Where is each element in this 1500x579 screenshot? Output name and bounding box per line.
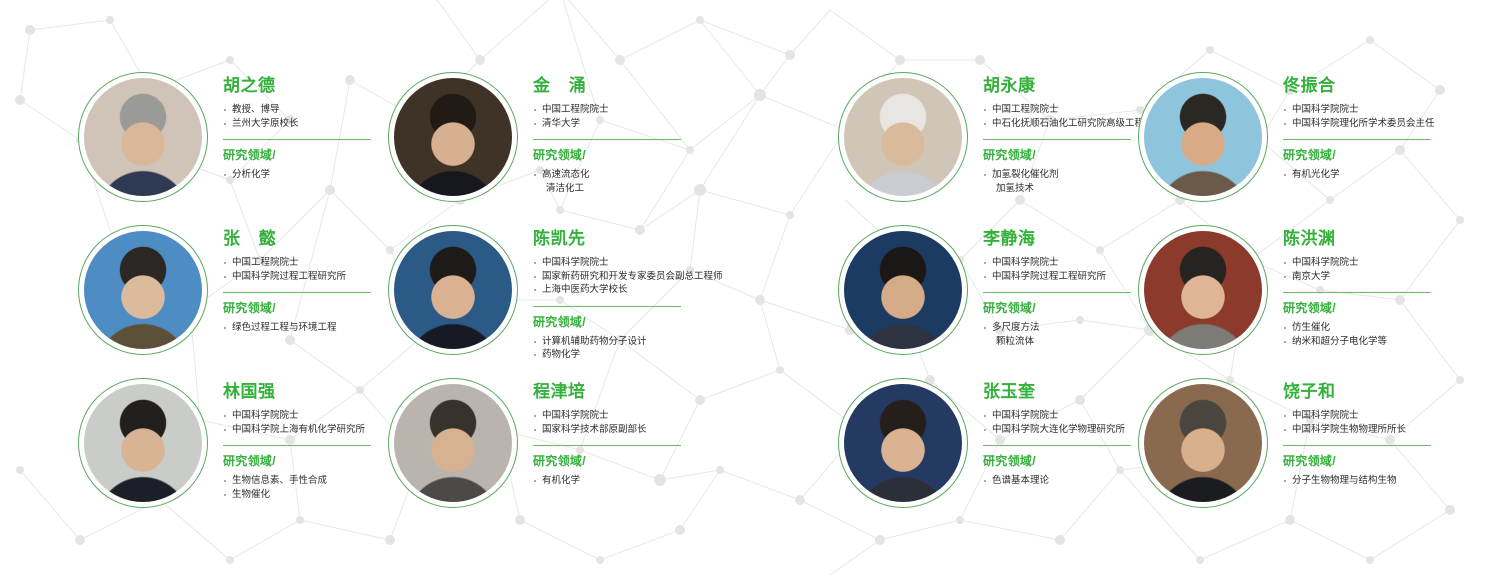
expert-title-item: 国家科学技术部原副部长: [533, 423, 773, 437]
section-divider: [983, 292, 1131, 293]
expert-card[interactable]: 张玉奎中国科学院院士中国科学院大连化学物理研究所研究领域/色谱基本理论: [838, 378, 1138, 528]
expert-title-item: 中国科学院理化所学术委员会主任: [1283, 117, 1500, 131]
expert-titles-list: 中国科学院院士南京大学: [1283, 256, 1500, 283]
avatar-photo: [1144, 231, 1262, 349]
section-divider: [1283, 445, 1431, 446]
expert-card[interactable]: 林国强中国科学院院士中国科学院上海有机化学研究所研究领域/生物信息素、手性合成生…: [78, 378, 378, 528]
avatar-photo: [84, 231, 202, 349]
research-field-item: 计算机辅助药物分子设计: [533, 335, 773, 349]
expert-info: 陈洪渊中国科学院院士南京大学研究领域/仿生催化纳米和超分子电化学等: [1283, 229, 1500, 348]
section-divider: [983, 445, 1131, 446]
avatar-photo: [394, 231, 512, 349]
research-field-item: 仿生催化: [1283, 321, 1500, 335]
expert-titles-list: 中国科学院院士国家科学技术部原副部长: [533, 409, 773, 436]
avatar[interactable]: [78, 72, 208, 202]
expert-title-item: 中国科学院院士: [533, 256, 773, 270]
section-divider: [533, 306, 681, 307]
expert-title-item: 国家新药研究和开发专家委员会副总工程师: [533, 270, 773, 284]
avatar[interactable]: [388, 72, 518, 202]
expert-title-item: 中国科学院生物物理所所长: [1283, 423, 1500, 437]
avatar[interactable]: [838, 72, 968, 202]
expert-info: 佟振合中国科学院院士中国科学院理化所学术委员会主任研究领域/有机光化学: [1283, 76, 1500, 182]
research-field-item: 有机光化学: [1283, 168, 1500, 182]
avatar[interactable]: [1138, 72, 1268, 202]
research-field-item: 药物化学: [533, 348, 773, 362]
expert-title-item: 清华大学: [533, 117, 773, 131]
research-field-item: 纳米和超分子电化学等: [1283, 335, 1500, 349]
expert-card[interactable]: 张 懿中国工程院院士中国科学院过程工程研究所研究领域/绿色过程工程与环境工程: [78, 225, 378, 375]
avatar[interactable]: [1138, 225, 1268, 355]
section-divider: [533, 445, 681, 446]
avatar[interactable]: [388, 225, 518, 355]
research-field-list: 计算机辅助药物分子设计药物化学: [533, 335, 773, 362]
expert-title-item: 中国科学院院士: [1283, 256, 1500, 270]
research-field-list: 有机化学: [533, 474, 773, 488]
expert-card[interactable]: 金 涌中国工程院院士清华大学研究领域/高速流态化清洁化工: [388, 72, 688, 222]
avatar-photo: [1144, 384, 1262, 502]
avatar-photo: [844, 384, 962, 502]
avatar[interactable]: [388, 378, 518, 508]
section-divider: [1283, 292, 1431, 293]
expert-card[interactable]: 佟振合中国科学院院士中国科学院理化所学术委员会主任研究领域/有机光化学: [1138, 72, 1438, 222]
avatar-photo: [84, 78, 202, 196]
avatar[interactable]: [838, 225, 968, 355]
research-field-label: 研究领域/: [533, 315, 773, 330]
research-field-list: 分子生物物理与结构生物: [1283, 474, 1500, 488]
expert-card[interactable]: 陈洪渊中国科学院院士南京大学研究领域/仿生催化纳米和超分子电化学等: [1138, 225, 1438, 375]
expert-title-item: 中国科学院院士: [533, 409, 773, 423]
expert-card[interactable]: 陈凯先中国科学院院士国家新药研究和开发专家委员会副总工程师上海中医药大学校长研究…: [388, 225, 688, 375]
expert-title-item: 南京大学: [1283, 270, 1500, 284]
expert-title-item: 中国科学院院士: [1283, 103, 1500, 117]
avatar-photo: [394, 384, 512, 502]
expert-title-item: 中国科学院院士: [1283, 409, 1500, 423]
section-divider: [223, 445, 371, 446]
expert-card[interactable]: 饶子和中国科学院院士中国科学院生物物理所所长研究领域/分子生物物理与结构生物: [1138, 378, 1438, 528]
research-field-list: 有机光化学: [1283, 168, 1500, 182]
expert-name: 佟振合: [1283, 76, 1500, 96]
expert-titles-list: 中国科学院院士中国科学院理化所学术委员会主任: [1283, 103, 1500, 130]
expert-name: 陈凯先: [533, 229, 773, 249]
avatar-photo: [844, 231, 962, 349]
avatar-photo: [844, 78, 962, 196]
expert-card[interactable]: 程津培中国科学院院士国家科学技术部原副部长研究领域/有机化学: [388, 378, 688, 528]
avatar[interactable]: [78, 378, 208, 508]
expert-title-item: 中国工程院院士: [533, 103, 773, 117]
research-field-label: 研究领域/: [1283, 454, 1500, 469]
research-field-label: 研究领域/: [533, 148, 773, 163]
avatar-photo: [394, 78, 512, 196]
expert-titles-list: 中国工程院院士清华大学: [533, 103, 773, 130]
experts-grid: 胡之德教授、博导兰州大学原校长研究领域/分析化学金 涌中国工程院院士清华大学研究…: [0, 0, 1500, 579]
research-field-label: 研究领域/: [533, 454, 773, 469]
expert-name: 饶子和: [1283, 382, 1500, 402]
expert-titles-list: 中国科学院院士国家新药研究和开发专家委员会副总工程师上海中医药大学校长: [533, 256, 773, 297]
expert-name: 陈洪渊: [1283, 229, 1500, 249]
expert-info: 程津培中国科学院院士国家科学技术部原副部长研究领域/有机化学: [533, 382, 773, 488]
research-field-item: 清洁化工: [533, 182, 773, 196]
expert-title-item: 上海中医药大学校长: [533, 283, 773, 297]
avatar-photo: [84, 384, 202, 502]
research-field-list: 仿生催化纳米和超分子电化学等: [1283, 321, 1500, 348]
section-divider: [223, 292, 371, 293]
expert-name: 金 涌: [533, 76, 773, 96]
section-divider: [533, 139, 681, 140]
expert-card[interactable]: 胡之德教授、博导兰州大学原校长研究领域/分析化学: [78, 72, 378, 222]
expert-info: 陈凯先中国科学院院士国家新药研究和开发专家委员会副总工程师上海中医药大学校长研究…: [533, 229, 773, 362]
section-divider: [223, 139, 371, 140]
research-field-label: 研究领域/: [1283, 148, 1500, 163]
section-divider: [983, 139, 1131, 140]
research-field-item: 高速流态化: [533, 168, 773, 182]
avatar-photo: [1144, 78, 1262, 196]
avatar[interactable]: [1138, 378, 1268, 508]
expert-name: 程津培: [533, 382, 773, 402]
section-divider: [1283, 139, 1431, 140]
expert-card[interactable]: 李静海中国科学院院士中国科学院过程工程研究所研究领域/多尺度方法颗粒流体: [838, 225, 1138, 375]
expert-card[interactable]: 胡永康中国工程院院士中石化抚顺石油化工研究院高级工程师研究领域/加氢裂化催化剂加…: [838, 72, 1138, 222]
avatar[interactable]: [838, 378, 968, 508]
research-field-item: 分子生物物理与结构生物: [1283, 474, 1500, 488]
research-field-list: 高速流态化清洁化工: [533, 168, 773, 195]
avatar[interactable]: [78, 225, 208, 355]
expert-titles-list: 中国科学院院士中国科学院生物物理所所长: [1283, 409, 1500, 436]
research-field-item: 有机化学: [533, 474, 773, 488]
expert-info: 饶子和中国科学院院士中国科学院生物物理所所长研究领域/分子生物物理与结构生物: [1283, 382, 1500, 488]
research-field-label: 研究领域/: [1283, 301, 1500, 316]
expert-info: 金 涌中国工程院院士清华大学研究领域/高速流态化清洁化工: [533, 76, 773, 195]
